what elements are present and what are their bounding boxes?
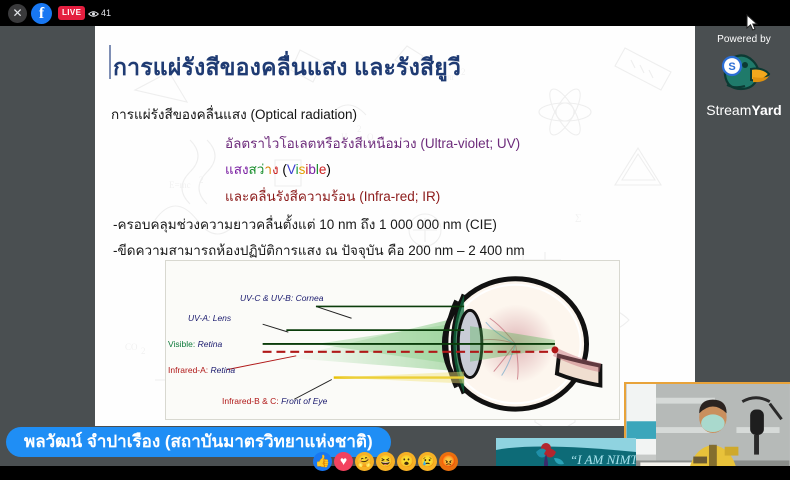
svg-text:E=mc: E=mc	[169, 180, 191, 190]
eye-absorption-diagram: UV-C & UV-B: Cornea UV-A: Lens Visible: …	[165, 260, 620, 420]
live-badge: LIVE	[58, 6, 85, 20]
title-accent-rule	[109, 45, 111, 79]
label-uv-a-lens: UV-A: Lens	[188, 313, 231, 323]
label-ir-a-key: Infrared-A:	[168, 365, 208, 375]
visible-part-2: า	[264, 162, 272, 177]
sad-reaction[interactable]: 😢	[418, 452, 437, 471]
haha-reaction[interactable]: 😆	[376, 452, 395, 471]
love-reaction[interactable]: ♥	[334, 452, 353, 471]
bullet-visible: แสงสว่าง (Visible)	[225, 158, 331, 180]
visible-part-4: (	[279, 162, 287, 177]
mouse-cursor-icon	[746, 14, 759, 32]
label-visible-value: Retina	[198, 339, 223, 349]
eye-icon	[88, 10, 99, 18]
close-icon[interactable]: ✕	[8, 4, 27, 23]
broadcast-stage: H2O E=mc2 πr2 √x ∑ ∫dx ΔT Na CO2 การแผ่ร…	[0, 14, 790, 466]
duck-logo-icon: S	[717, 49, 771, 95]
slide-subtitle: การแผ่รังสีของคลื่นแสง (Optical radiatio…	[111, 103, 357, 125]
bullet-infrared: และคลื่นรังสีความร้อน (Infra-red; IR)	[225, 185, 440, 207]
svg-text:∑: ∑	[575, 212, 581, 222]
livestream-screen: H2O E=mc2 πr2 √x ∑ ∫dx ΔT Na CO2 การแผ่ร…	[0, 0, 790, 480]
viewer-count: 41	[88, 6, 111, 20]
viewer-count-value: 41	[101, 8, 111, 18]
label-infrared-bc-front: Infrared-B & C: Front of Eye	[222, 396, 327, 406]
powered-by-label: Powered by	[698, 34, 790, 45]
svg-text:CO: CO	[125, 342, 138, 352]
visible-part-5: V	[287, 162, 296, 177]
label-ir-bc-value: Front of Eye	[281, 396, 327, 406]
nimt-watermark-text: “I AM NIMT	[570, 452, 636, 467]
reaction-bar[interactable]: 👍 ♥ 🤗 😆 😮 😢 😡	[313, 452, 458, 474]
label-uv-c-b-cornea: UV-C & UV-B: Cornea	[240, 293, 323, 303]
bullet-ultraviolet: อัลตราไวโอเลตหรือรังสีเหนือม่วง (Ultra-v…	[225, 132, 520, 154]
svg-text:2: 2	[199, 175, 204, 185]
streamyard-branding: Powered by S StreamYard	[698, 20, 790, 140]
wow-reaction[interactable]: 😮	[397, 452, 416, 471]
label-ir-a-value: Retina	[211, 365, 236, 375]
brand-first: Stream	[706, 102, 751, 118]
presentation-slide: H2O E=mc2 πr2 √x ∑ ∫dx ΔT Na CO2 การแผ่ร…	[95, 20, 695, 426]
label-ir-bc-key: Infrared-B & C:	[222, 396, 279, 406]
visible-part-0: แสง	[225, 162, 249, 177]
angry-reaction[interactable]: 😡	[439, 452, 458, 471]
svg-text:S: S	[728, 61, 735, 73]
page-title: การแผ่รังสีของคลื่นแสง และรังสียูวี	[113, 50, 673, 86]
bullet-wavelength-range: -ครอบคลุมช่วงความยาวคลื่นตั้งแต่ 10 nm ถ…	[113, 213, 497, 235]
svg-text:2: 2	[141, 346, 146, 356]
top-control-bar: ✕ f LIVE 41	[0, 0, 790, 26]
bullet-lab-capability: -ขีดความสามารถห้องปฏิบัติการแสง ณ ปัจจุบ…	[113, 239, 525, 261]
streamyard-wordmark: StreamYard	[698, 102, 790, 118]
visible-part-1: สว่	[249, 162, 265, 177]
visible-part-3: ง	[272, 162, 279, 177]
brand-second: Yard	[751, 102, 781, 118]
label-visible-key: Visible:	[168, 339, 195, 349]
label-infrared-a-retina: Infrared-A: Retina	[168, 365, 235, 375]
like-reaction[interactable]: 👍	[313, 452, 332, 471]
label-visible-retina: Visible: Retina	[168, 339, 222, 349]
visible-part-9: b	[308, 162, 316, 177]
visible-part-12: )	[326, 162, 331, 177]
care-reaction[interactable]: 🤗	[355, 452, 374, 471]
facebook-icon[interactable]: f	[31, 3, 52, 24]
